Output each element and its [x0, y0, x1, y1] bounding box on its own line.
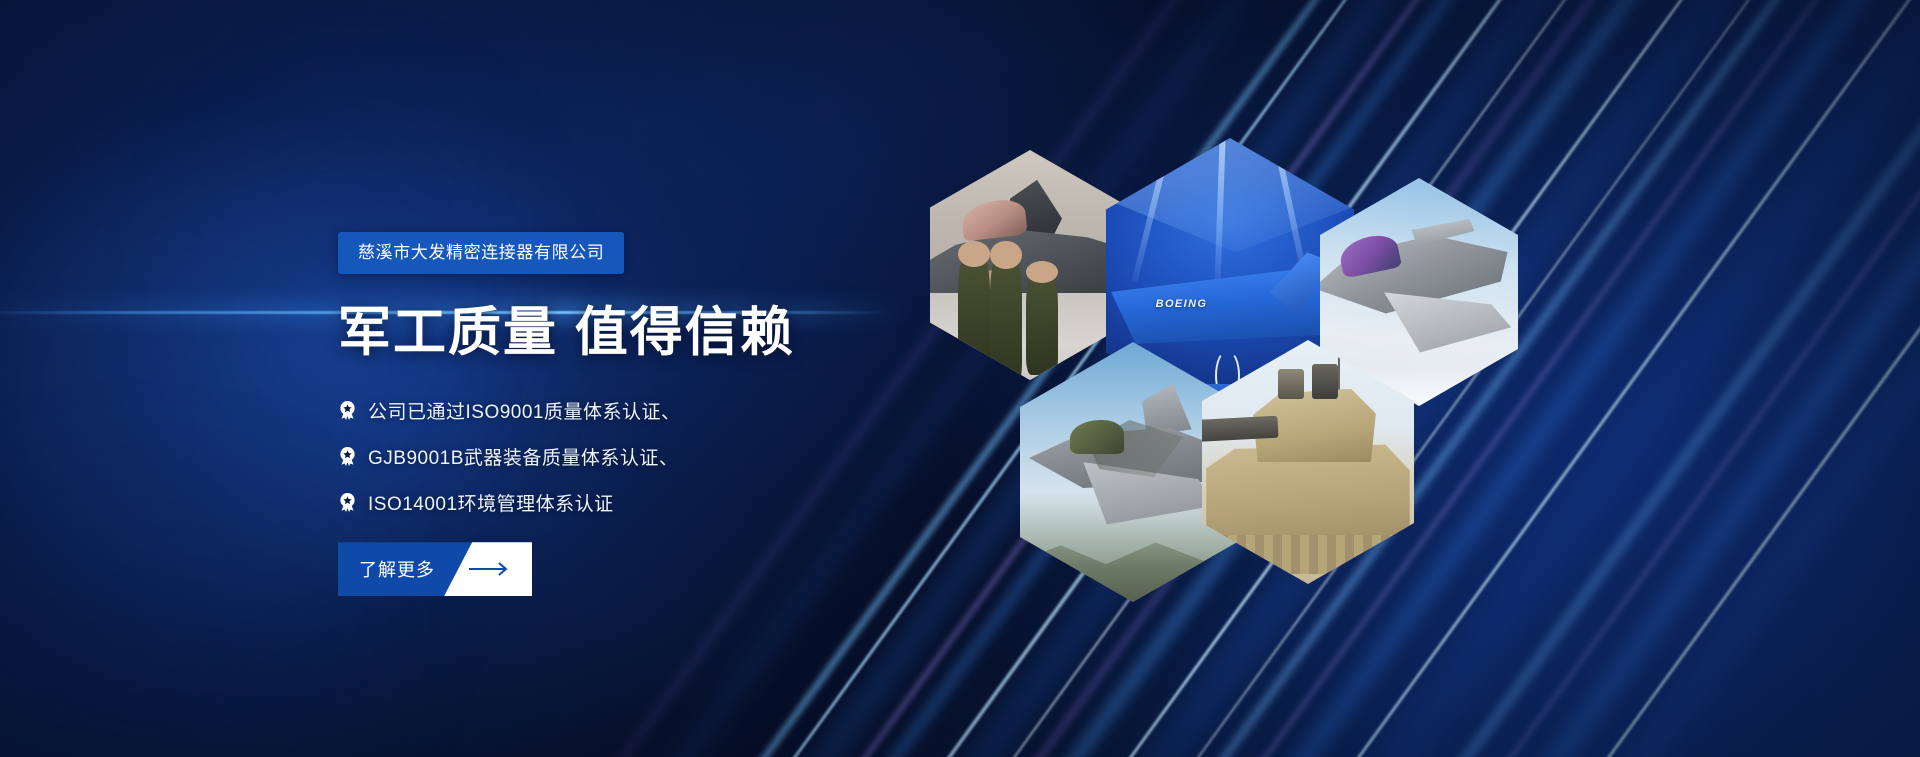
- mountain-range: [1020, 534, 1246, 602]
- medal-icon: [338, 401, 357, 420]
- hero-headline: 军工质量 值得信赖: [338, 304, 978, 361]
- hex-gallery: BOEING: [930, 150, 1400, 620]
- list-item-label: GJB9001B武器装备质量体系认证、: [368, 443, 678, 470]
- tank-track-skirt: [1210, 535, 1405, 574]
- hero-content: 慈溪市大发精密连接器有限公司 军工质量 值得信赖 公司已通过ISO9001质量体…: [338, 232, 978, 596]
- list-item: ISO14001环境管理体系认证: [338, 489, 978, 516]
- certification-list: 公司已通过ISO9001质量体系认证、 GJB9001B武器装备质量体系认证、: [338, 397, 978, 516]
- list-item-label: 公司已通过ISO9001质量体系认证、: [368, 397, 681, 424]
- medal-icon: [338, 447, 357, 466]
- learn-more-label: 了解更多: [359, 542, 435, 596]
- list-item-label: ISO14001环境管理体系认证: [368, 489, 614, 516]
- tank-cupola: [1278, 369, 1303, 398]
- learn-more-button[interactable]: 了解更多: [338, 542, 532, 596]
- boeing-logo: BOEING: [1156, 298, 1208, 310]
- medal-icon: [338, 493, 357, 512]
- company-name-badge: 慈溪市大发精密连接器有限公司: [338, 232, 624, 274]
- tank-machine-gun: [1312, 364, 1337, 398]
- list-item: 公司已通过ISO9001质量体系认证、: [338, 397, 978, 424]
- pilot-figure: [1026, 265, 1058, 375]
- pilot-figure: [990, 247, 1022, 380]
- jet-canopy: [1070, 420, 1124, 454]
- list-item: GJB9001B武器装备质量体系认证、: [338, 443, 978, 470]
- arrow-right-icon: [468, 542, 512, 596]
- hero-banner: BOEING: [0, 0, 1920, 757]
